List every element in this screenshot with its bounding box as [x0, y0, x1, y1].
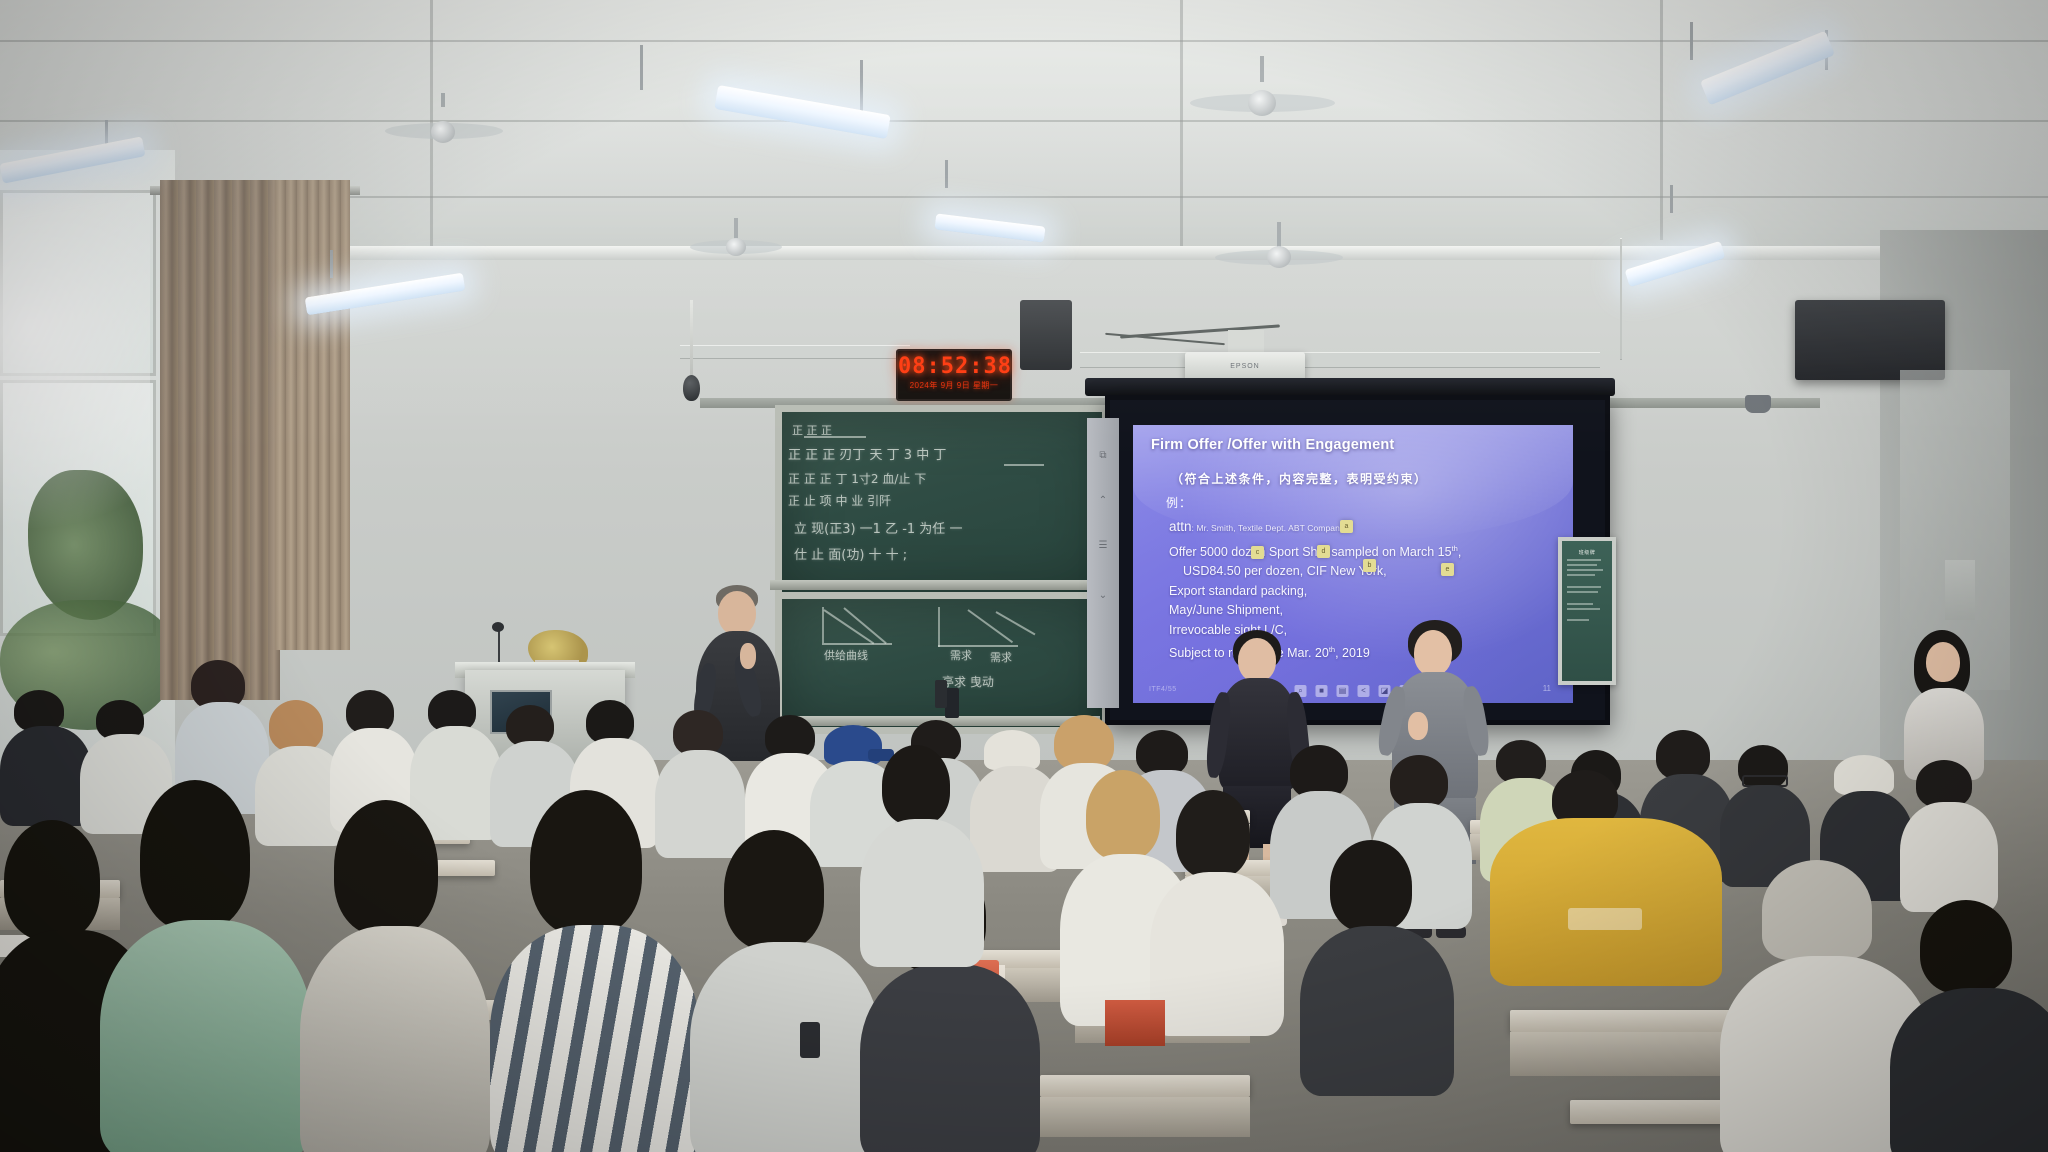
student-foreground	[1890, 900, 2048, 1152]
wall-notice-board: 班级牌	[1558, 537, 1616, 685]
page-icon[interactable]: ▤	[1337, 685, 1349, 697]
desk	[1040, 1075, 1250, 1097]
slide-attn-line: attn: Mr. Smith, Textile Dept. ABT Compa…	[1169, 517, 1559, 539]
wall-speaker	[1020, 300, 1072, 370]
student	[860, 745, 980, 960]
slide-annotation-tag[interactable]: d	[1317, 545, 1330, 558]
slide-example-label: 例：	[1166, 494, 1192, 511]
blackboard-upper: 正 正 正 正 正 正 刃丁 天 丁 3 中 丁 正 正 正 丁 1寸2 血/止…	[775, 405, 1109, 599]
slide-page-number: 11	[1543, 684, 1551, 693]
desk-front	[1040, 1097, 1250, 1137]
chalk-text: 需求	[990, 649, 1012, 665]
student	[1150, 790, 1280, 1030]
share-icon[interactable]: <	[1358, 685, 1370, 697]
notice-line	[1567, 608, 1600, 610]
chalk-tray	[770, 580, 1100, 590]
light-rod	[640, 45, 643, 90]
window-curtain	[275, 180, 350, 650]
notice-line	[1567, 559, 1601, 561]
slide-annotation-tag[interactable]: a	[1340, 520, 1353, 533]
student	[0, 690, 90, 820]
screen-roller	[1085, 378, 1615, 396]
window-curtain	[160, 180, 280, 700]
student	[1300, 840, 1450, 1090]
smartphone[interactable]	[800, 1022, 820, 1058]
chalk-text: 供给曲线	[824, 647, 868, 663]
notice-title: 班级牌	[1562, 549, 1612, 556]
ceiling-seam	[0, 120, 2048, 122]
security-camera	[1745, 395, 1771, 413]
chalk-text: 正 止 项 中 业 引阡	[788, 492, 891, 509]
hanging-microphone-wire	[690, 300, 693, 380]
screen-side-controls[interactable]: ⧉ ⌃ ☰ ⌄	[1087, 418, 1119, 708]
notice-line	[1567, 619, 1589, 621]
chalk-text: 正 正 正 丁 1寸2 血/止 下	[788, 470, 926, 487]
student-right-wall	[1900, 630, 1990, 780]
light-rod	[1670, 185, 1673, 213]
light-rod	[1690, 22, 1693, 60]
slide-annotation-tag[interactable]: b	[1363, 559, 1376, 572]
led-wall-clock: 08:52:38 2024年 9月 9日 星期一	[896, 349, 1012, 401]
window-glare	[0, 160, 150, 580]
notice-line	[1567, 564, 1597, 566]
notice-line	[1567, 574, 1595, 576]
ceiling-seam	[0, 40, 2048, 42]
chalk-text: 正 正 正 刃丁 天 丁 3 中 丁	[788, 444, 946, 463]
notice-line	[1567, 569, 1603, 571]
presentation-slide[interactable]: Firm Offer /Offer with Engagement （符合上述条…	[1133, 425, 1573, 703]
student-yellow-shirt	[1490, 770, 1720, 980]
student-foreground	[690, 830, 870, 1152]
cable-conduit	[680, 345, 910, 359]
board-eraser	[945, 688, 959, 718]
slide-annotation-tag[interactable]: c	[1251, 546, 1264, 559]
desk-item-box	[1105, 1000, 1165, 1046]
chalk-text: 立 现(正3) 一1 乙 -1 为任 一	[794, 518, 962, 537]
ceiling-seam	[1180, 0, 1183, 250]
stop-icon[interactable]: ■	[1316, 685, 1328, 697]
attn-value: : Mr. Smith, Textile Dept. ABT Company	[1192, 523, 1345, 533]
slide-footer: ITF4/55	[1149, 686, 1177, 693]
attn-label: attn	[1169, 519, 1192, 534]
cable-conduit	[1080, 352, 1600, 368]
up-chevron-icon[interactable]: ⌃	[1095, 493, 1111, 509]
student-foreground	[100, 780, 300, 1152]
water-bottle	[935, 680, 947, 708]
wall-conduit	[1620, 238, 1622, 360]
wall-speaker	[1795, 300, 1945, 380]
slide-title: Firm Offer /Offer with Engagement	[1151, 437, 1394, 453]
ceiling-seam	[1660, 0, 1663, 240]
microphone-icon	[492, 622, 504, 632]
source-icon[interactable]: ⧉	[1095, 448, 1111, 464]
slide-annotation-tag[interactable]: e	[1441, 563, 1454, 576]
student-foreground-striped	[490, 790, 690, 1152]
classroom-photo: 08:52:38 2024年 9月 9日 星期一 正 正 正 正 正 正 刃丁 …	[0, 0, 2048, 1152]
clock-date: 2024年 9月 9日 星期一	[898, 380, 1010, 391]
notice-line	[1567, 603, 1593, 605]
chalk-text: 需求	[950, 647, 972, 663]
slide-line-4: May/June Shipment,	[1169, 601, 1559, 621]
hanging-microphone	[683, 375, 700, 401]
notice-line	[1567, 591, 1598, 593]
down-chevron-icon[interactable]: ⌄	[1095, 588, 1111, 604]
light-rod	[945, 160, 948, 188]
light-rod	[860, 60, 863, 115]
chalk-text: 仕 止 面(功) 十 十 ;	[794, 544, 907, 563]
slide-line-1-tail: ,	[1458, 545, 1461, 559]
menu-icon[interactable]: ☰	[1095, 538, 1111, 554]
slide-line-3: Export standard packing,	[1169, 582, 1559, 602]
blackboard-lower: 供给曲线 需求 需求 亭求 曳动	[775, 592, 1109, 734]
notice-line	[1567, 586, 1601, 588]
slide-line-1-main: Offer 5000 dozen Sport Shirt sampled on …	[1169, 545, 1452, 559]
student-foreground	[300, 800, 480, 1152]
slide-chinese-note: （符合上述条件，内容完整，表明受约束）	[1171, 470, 1428, 487]
clock-time: 08:52:38	[898, 354, 1010, 379]
light-rod	[330, 250, 333, 278]
slide-line-6-tail: , 2019	[1335, 646, 1370, 660]
projector-mount	[1228, 330, 1264, 354]
